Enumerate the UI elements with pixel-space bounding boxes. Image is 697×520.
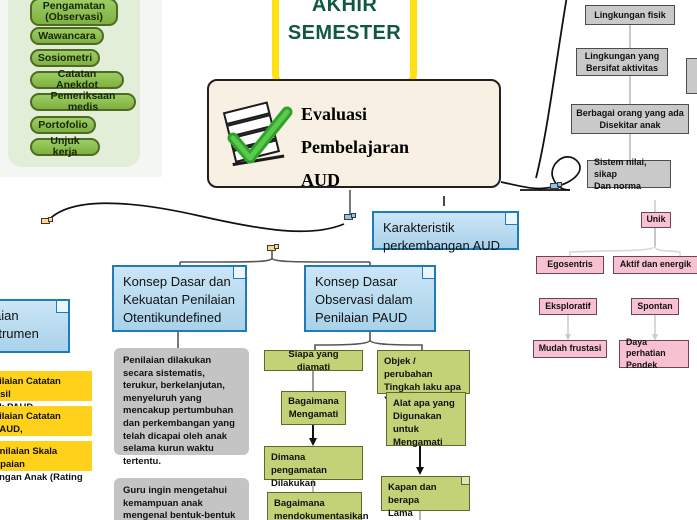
node-line-1: Konsep Dasar [315, 273, 426, 291]
pill-label: Catatan Anekdot [37, 69, 117, 91]
pill-pemeriksaan-medis[interactable]: Pemeriksaan medis [30, 93, 136, 111]
box-lingkungan-fisik[interactable]: Lingkungan fisik [585, 5, 675, 25]
collapse-handle-center-right[interactable] [344, 214, 353, 220]
node-line-1: Karakteristik [383, 219, 509, 237]
box-line-1: Lingkungan fisik [594, 9, 666, 21]
box-egosentris[interactable]: Egosentris [536, 256, 604, 274]
yellow-bar-catatan[interactable]: enilaian Catatan t PAUD, [0, 406, 92, 436]
box-line-3: Mengamati [393, 436, 459, 449]
box-bagaimana-mendokumentasikan[interactable]: Bagaimana mendokumentasikan [267, 492, 362, 520]
box-line-1: Egosentris [547, 259, 592, 271]
box-fold-corner [461, 477, 469, 485]
collapse-handle-left[interactable] [41, 218, 50, 224]
box-line-1: Berbagai orang yang ada [576, 107, 684, 119]
yellow-bar-line-1: enilaian Catatan Hasil [0, 375, 86, 401]
node-fold-corner [56, 301, 68, 313]
box-line-1: Kapan dan berapa [388, 481, 463, 507]
node-line-1: Konsep Dasar dan [123, 273, 237, 291]
pill-pengamatan[interactable]: Pengamatan (Observasi) [30, 0, 118, 26]
box-line-1: Unik [646, 214, 665, 226]
box-line-2: Mengamati [288, 408, 339, 421]
box-line-2: Lama mengamati [388, 507, 463, 520]
node-konsep-dasar-kekuatan-penilaian[interactable]: Konsep Dasar dan Kekuatan Penilaian Oten… [112, 265, 247, 332]
box-kapan-dan-berapa-lama[interactable]: Kapan dan berapa Lama mengamati [381, 476, 470, 511]
box-line-2: mendokumentasikan [274, 510, 355, 520]
pill-label: Pemeriksaan medis [37, 91, 129, 113]
box-objek-perubahan-tingkah-laku[interactable]: Objek / perubahan Tingkah laku apa Yang … [377, 350, 470, 394]
box-line-1: Lingkungan yang [585, 50, 660, 62]
yellow-bar-line-1: Penilaian Skala Capaian [0, 445, 86, 471]
node-fold-corner [422, 267, 434, 279]
box-line-2: Dilakukan [271, 477, 356, 490]
collapse-handle-center-bottom[interactable] [267, 245, 276, 251]
pill-sosiometri[interactable]: Sosiometri [30, 49, 100, 67]
checklist-check-icon [217, 98, 303, 178]
box-daya-perhatian-pendek[interactable]: Daya perhatian Pendek [619, 340, 689, 368]
pill-wawancara[interactable]: Wawancara [30, 27, 104, 45]
box-mudah-frustasi[interactable]: Mudah frustasi [533, 340, 607, 358]
box-line-1: Spontan [637, 301, 672, 313]
box-aktif-dan-energik[interactable]: Aktif dan energik [613, 256, 697, 274]
node-fold-corner [505, 213, 517, 225]
pill-portofolio[interactable]: Portofolio [30, 116, 96, 134]
box-alat-apa-yang-digunakan[interactable]: Alat apa yang Digunakan untuk Mengamati [386, 392, 466, 446]
pill-label: Unjuk kerja [37, 136, 93, 158]
node-karakteristik-perkembangan-aud[interactable]: Karakteristik perkembangan AUD [372, 211, 519, 250]
note-text: Guru ingin mengetahui kemampuan anak men… [123, 485, 235, 520]
main-topic-title: Evaluasi Pembelajaran AUD [301, 98, 409, 197]
note-text: Penilaian dilakukan secara sistematis, t… [123, 355, 235, 467]
node-line-3: Otentikundefined [123, 309, 237, 327]
node-line-2: Instrumen [0, 325, 60, 343]
pill-unjuk-kerja[interactable]: Unjuk kerja [30, 138, 100, 156]
box-line-1: Aktif dan energik [620, 259, 691, 271]
note-penilaian-sistematis[interactable]: Penilaian dilakukan secara sistematis, t… [114, 348, 249, 455]
yellow-bar-skala-capaian[interactable]: Penilaian Skala Capaian bangan Anak (Rat… [0, 441, 92, 471]
ujian-akhir-semester-card[interactable]: UJIAN AKHIR SEMESTER [272, 0, 417, 90]
pill-label: Portofolio [38, 120, 88, 131]
node-line-2: Observasi dalam [315, 291, 426, 309]
box-line-2: Digunakan untuk [393, 410, 459, 436]
box-line-1: Siapa yang diamati [271, 348, 356, 374]
node-line-2: Kekuatan Penilaian [123, 291, 237, 309]
box-clipped-right-edge[interactable] [686, 58, 697, 94]
box-line-2: Pendek [626, 360, 684, 372]
pill-label: Wawancara [38, 31, 95, 42]
collapse-handle-right-loop[interactable] [550, 183, 559, 189]
box-dimana-pengamatan-dilakukan[interactable]: Dimana pengamatan Dilakukan [264, 446, 363, 480]
box-line-1: Daya perhatian [626, 337, 684, 360]
node-penilaian-instrumen[interactable]: nilaian Instrumen [0, 299, 70, 353]
pill-label: Sosiometri [38, 53, 92, 64]
main-title-line-3: AUD [301, 164, 409, 197]
box-line-1: Dimana pengamatan [271, 451, 356, 477]
box-line-2: Bersifat aktivitas [585, 62, 660, 74]
box-sistem-nilai[interactable]: Sistem nilai, sikap Dan norma [587, 160, 671, 188]
pill-label: Pengamatan (Observasi) [37, 1, 111, 23]
mindmap-canvas[interactable]: Pengamatan (Observasi) Wawancara Sosiome… [0, 0, 697, 520]
box-siapa-yang-diamati[interactable]: Siapa yang diamati [264, 350, 363, 371]
main-title-line-2: Pembelajaran [301, 131, 409, 164]
ujian-line-3: SEMESTER [279, 19, 410, 47]
box-unik[interactable]: Unik [641, 212, 671, 228]
box-lingkungan-aktivitas[interactable]: Lingkungan yang Bersifat aktivitas [576, 48, 668, 76]
yellow-bar-line-2: t PAUD, [0, 423, 86, 436]
pill-catatan-anekdot[interactable]: Catatan Anekdot [30, 71, 124, 89]
yellow-bar-catatan-hasil[interactable]: enilaian Catatan Hasil nak PAUD, [0, 371, 92, 401]
box-line-2: Dan norma [594, 180, 666, 192]
yellow-bar-line-2: bangan Anak (Rating [0, 471, 86, 484]
ujian-line-2: AKHIR [279, 0, 410, 19]
node-line-2: perkembangan AUD [383, 237, 509, 255]
box-line-1: Mudah frustasi [539, 343, 602, 355]
box-eksploratif[interactable]: Eksploratif [539, 298, 597, 315]
main-title-line-1: Evaluasi [301, 98, 409, 131]
yellow-bar-line-1: enilaian Catatan [0, 410, 86, 423]
node-fold-corner [233, 267, 245, 279]
box-line-1: Objek / perubahan [384, 355, 463, 381]
node-line-1: nilaian [0, 307, 60, 325]
box-line-1: Bagaimana [288, 395, 339, 408]
box-line-1: Bagaimana [274, 497, 355, 510]
box-line-1: Alat apa yang [393, 397, 459, 410]
node-konsep-dasar-observasi[interactable]: Konsep Dasar Observasi dalam Penilaian P… [304, 265, 436, 332]
box-berbagai-orang[interactable]: Berbagai orang yang ada Disekitar anak [571, 104, 689, 134]
node-line-3: Penilaian PAUD [315, 309, 426, 327]
box-line-1: Eksploratif [545, 301, 590, 313]
box-spontan[interactable]: Spontan [631, 298, 679, 315]
box-line-1: Sistem nilai, sikap [594, 156, 666, 180]
box-line-2: Disekitar anak [576, 119, 684, 131]
note-guru-ingin-mengetahui[interactable]: Guru ingin mengetahui kemampuan anak men… [114, 478, 249, 520]
main-topic-card[interactable]: Evaluasi Pembelajaran AUD [207, 79, 501, 188]
box-bagaimana-mengamati[interactable]: Bagaimana Mengamati [281, 391, 346, 425]
